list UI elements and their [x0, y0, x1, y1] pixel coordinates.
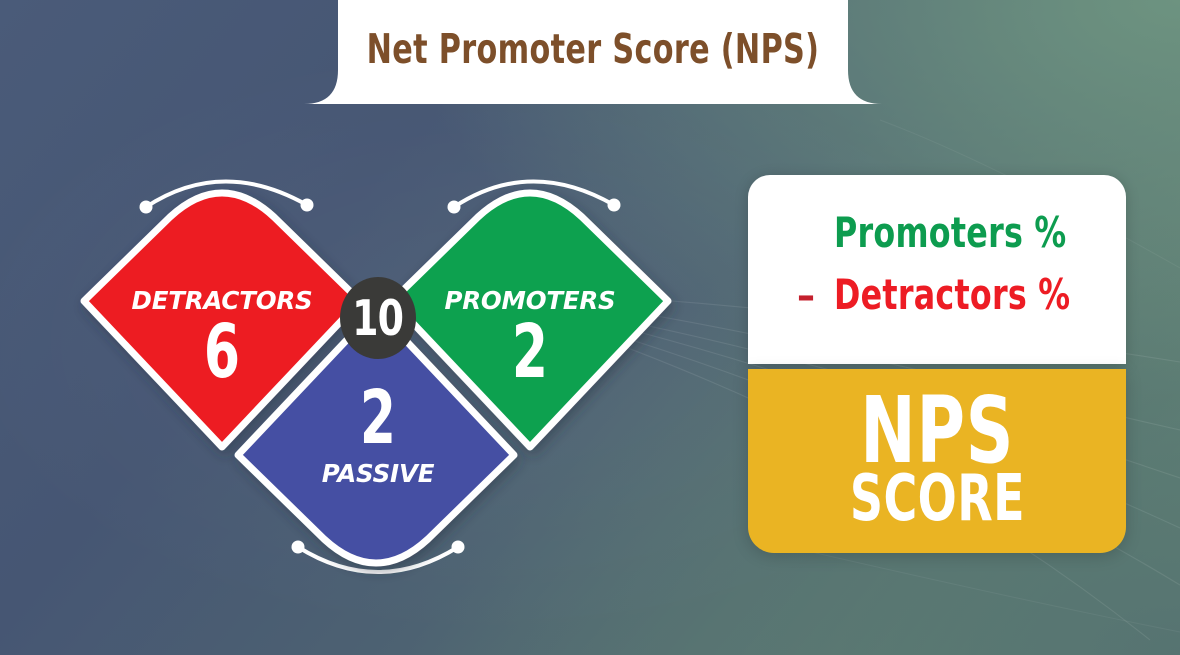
formula-row-promoters: Promoters %: [778, 208, 1126, 270]
total-score-badge: 10: [340, 277, 416, 359]
nps-diamond-cluster: DETRACTORS 6 PROMOTERS 2 2 PASSIVE 10: [60, 155, 740, 595]
title-banner: Net Promoter Score (NPS): [300, 0, 886, 116]
formula-term-detractors: Detractors %: [834, 270, 1070, 319]
total-score-value: 10: [352, 290, 403, 347]
diamond-shapes: [60, 155, 740, 595]
nps-score-subtitle: SCORE: [849, 471, 1024, 529]
formula-term-promoters: Promoters %: [834, 208, 1066, 257]
formula-row-detractors: – Detractors %: [778, 270, 1126, 332]
infographic-canvas: Net Promoter Score (NPS): [0, 0, 1180, 655]
formula-card: Promoters % – Detractors %: [748, 175, 1126, 364]
minus-sign-icon: –: [778, 276, 834, 316]
page-title: Net Promoter Score (NPS): [353, 0, 834, 104]
nps-score-title: NPS: [860, 393, 1014, 468]
nps-score-card: NPS SCORE: [748, 369, 1126, 553]
